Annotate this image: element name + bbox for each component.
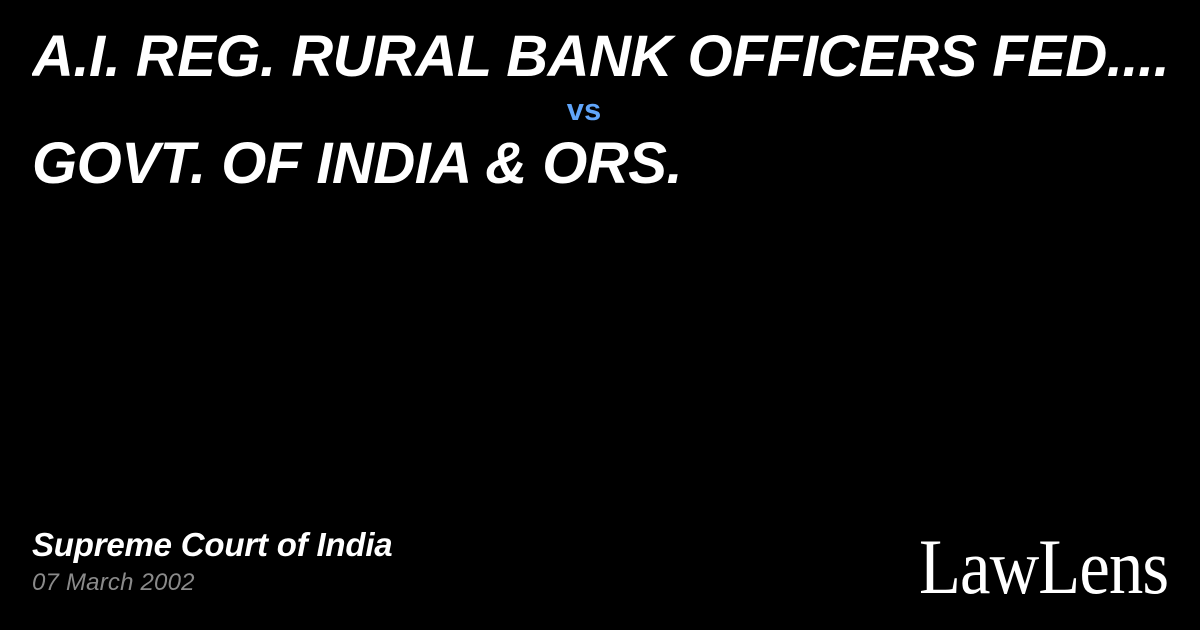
judgment-date: 07 March 2002 bbox=[32, 570, 392, 596]
card-footer: Supreme Court of India 07 March 2002 Law… bbox=[32, 527, 1168, 600]
petitioner-name: A.I. REG. RURAL BANK OFFICERS FED.... bbox=[32, 26, 1168, 88]
lawlens-wordmark: LawLens bbox=[919, 533, 1168, 600]
case-card: A.I. REG. RURAL BANK OFFICERS FED.... vs… bbox=[0, 0, 1200, 630]
court-name: Supreme Court of India bbox=[32, 527, 392, 563]
case-meta: Supreme Court of India 07 March 2002 bbox=[32, 527, 392, 600]
case-title-block: A.I. REG. RURAL BANK OFFICERS FED.... vs… bbox=[32, 26, 1168, 195]
versus-row: vs bbox=[32, 94, 1168, 125]
respondent-name: GOVT. OF INDIA & ORS. bbox=[32, 133, 1168, 195]
versus-separator: vs bbox=[567, 94, 601, 125]
